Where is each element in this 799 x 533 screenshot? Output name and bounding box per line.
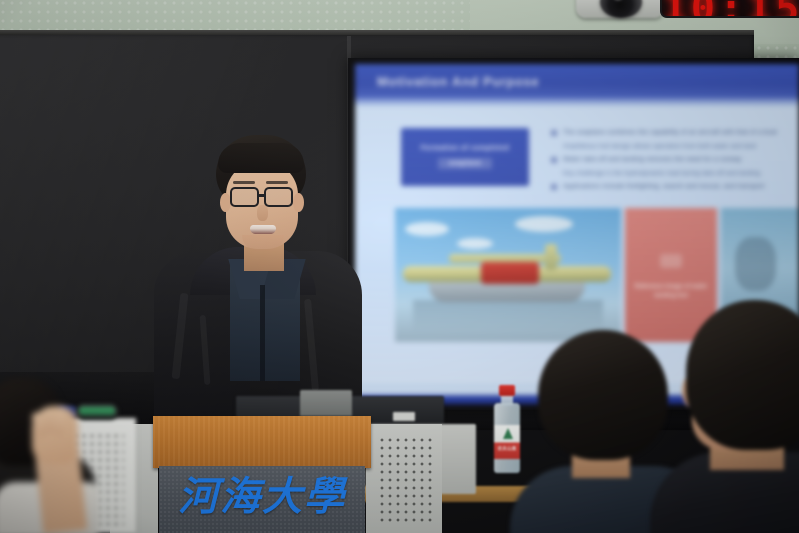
- blackboard-top-edge: [0, 30, 754, 35]
- sky-subject: [735, 237, 776, 291]
- laptop-riser: [300, 390, 352, 416]
- university-name-calligraphy: 河海大學: [159, 470, 365, 524]
- bottle-cap: [499, 385, 515, 396]
- plane-tail: [545, 244, 557, 270]
- presenter-nose: [257, 205, 268, 221]
- presenter-hair-fringe: [218, 143, 304, 173]
- camera-glint: [611, 0, 625, 1]
- bullet-item: The seaplane combines the capability of …: [551, 128, 787, 137]
- podium-panel-right: [366, 424, 442, 533]
- glasses-bridge: [259, 194, 265, 197]
- podium-speaker-grille: [380, 438, 432, 524]
- foreground-person-left: [0, 378, 146, 533]
- slide-title: Motivation And Purpose: [355, 74, 539, 89]
- slide-sub-line: Key challenge is the hydrodynamic load d…: [563, 169, 787, 178]
- bullet-text: Applications include firefighting, searc…: [563, 182, 765, 191]
- laptop-foot: [393, 412, 415, 421]
- bottle-brand-text: 农夫山泉: [494, 446, 520, 452]
- slide-bullet-list: The seaplane combines the capability of …: [551, 128, 787, 196]
- slide-title-bar: Motivation And Purpose: [355, 64, 799, 98]
- seaplane-photo: [395, 208, 621, 342]
- cloud: [515, 216, 573, 232]
- slide-sub-line: Amphibious hull design allows operation …: [563, 142, 787, 151]
- glasses-lens-left: [230, 187, 259, 207]
- plane-water-shadow: [413, 300, 603, 330]
- presenter-mouth: [250, 225, 276, 234]
- jacket-fold: [304, 299, 319, 391]
- bullet-text: Water take-off and landing removes the n…: [563, 155, 742, 164]
- bullet-text: The seaplane combines the capability of …: [563, 128, 777, 137]
- callout-line-2: seaplane: [438, 158, 491, 169]
- bullet-marker-icon: [551, 130, 557, 136]
- glasses-lens-right: [264, 187, 293, 207]
- presenter: [138, 135, 362, 425]
- slide-title-underline: [355, 98, 799, 106]
- audience-member-2: [676, 300, 799, 533]
- presenter-eyebrow-left: [233, 181, 255, 184]
- bullet-item: Applications include firefighting, searc…: [551, 182, 787, 191]
- bullet-item: Water take-off and landing removes the n…: [551, 155, 787, 164]
- bottle-label: 农夫山泉: [494, 425, 520, 459]
- bullet-marker-icon: [551, 184, 557, 190]
- presenter-eyebrow-right: [266, 181, 288, 184]
- clock-time: 10:15: [663, 0, 799, 18]
- jacket-fold: [172, 293, 189, 379]
- finger: [54, 410, 66, 437]
- presenter-ear-right: [293, 193, 304, 212]
- red-panel-caption: Reference image of water landing test: [632, 283, 709, 301]
- podium-wood-top: [153, 416, 371, 468]
- audience-2-head: [686, 300, 799, 450]
- cloud: [457, 238, 493, 249]
- fg-left-hand: [32, 406, 78, 464]
- presenter-shirt-placket: [260, 285, 265, 381]
- bottle-neck: [501, 395, 513, 405]
- bullet-marker-icon: [551, 157, 557, 163]
- podium-plaque: 河海大學: [159, 466, 365, 533]
- audience-1-head: [538, 330, 668, 460]
- cloud: [405, 222, 449, 236]
- slide-callout-box: Formation of completed seaplane: [401, 128, 529, 186]
- water-bottle: 农夫山泉: [492, 385, 522, 473]
- lecture-hall-photo: 10:15 Motivation And Purpose Formation o…: [0, 0, 799, 533]
- jacket-fold: [200, 315, 211, 385]
- plane-livery: [481, 262, 539, 284]
- callout-line-1: Formation of completed: [410, 145, 520, 152]
- digital-clock: 10:15: [660, 0, 799, 18]
- bottle-label-tree-icon: [503, 428, 513, 439]
- wood-grain: [153, 416, 371, 468]
- red-panel-logo: [660, 254, 682, 268]
